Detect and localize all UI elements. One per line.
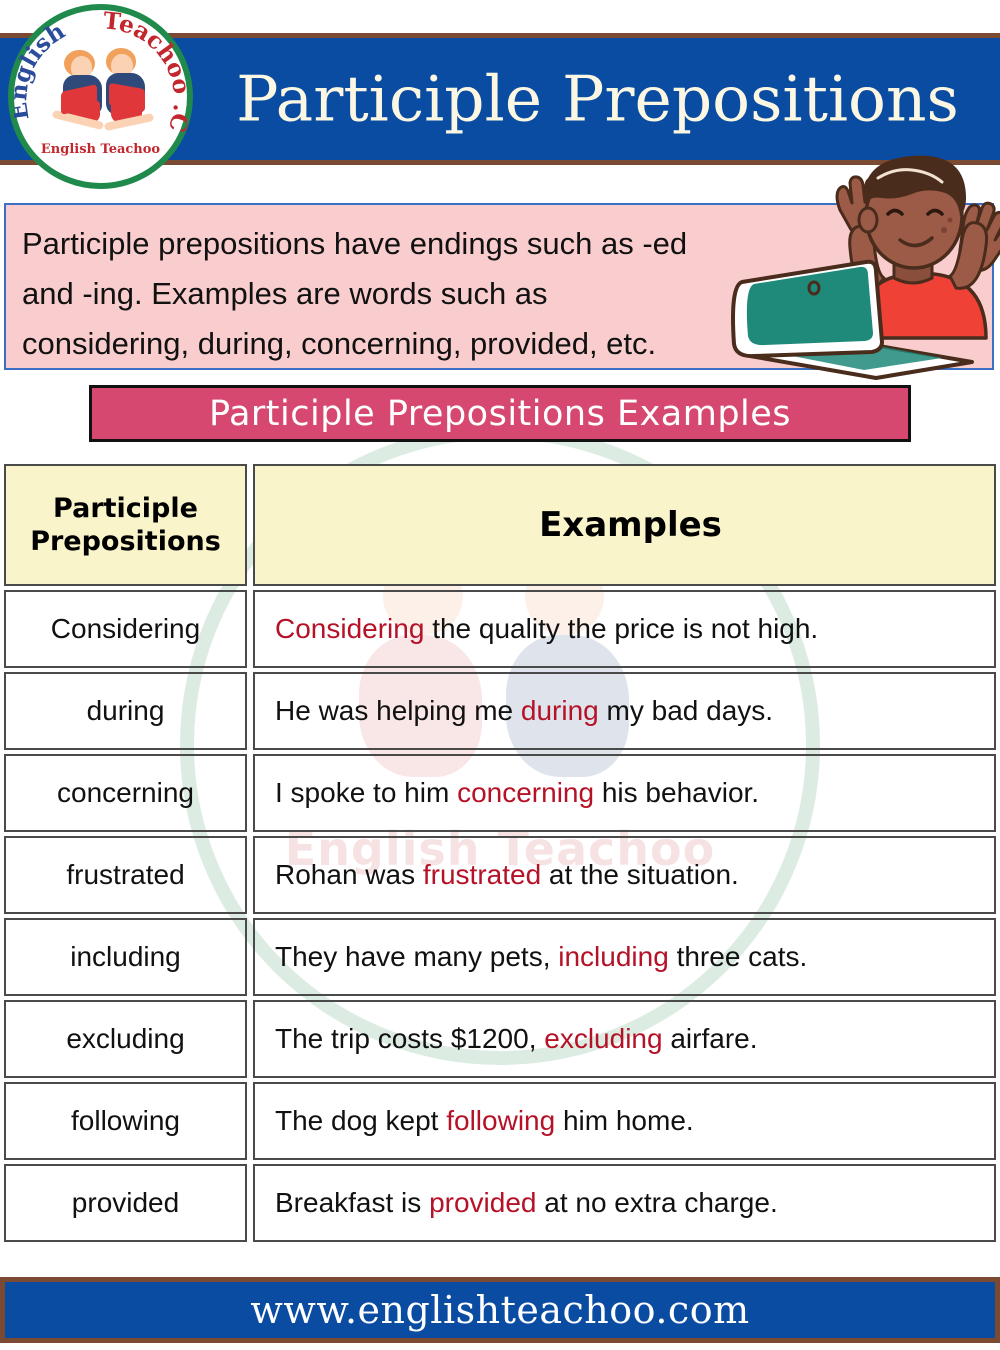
description-text: Participle prepositions have endings suc…	[22, 219, 982, 369]
table-cell-example: The dog kept following him home.	[253, 1082, 996, 1160]
table-cell-term: concerning	[4, 754, 247, 832]
table-cell-example: I spoke to him concerning his behavior.	[253, 754, 996, 832]
example-post: airfare.	[663, 1023, 758, 1054]
table-header-term-line-1: Participle	[30, 492, 221, 525]
example-pre: The trip costs $1200,	[275, 1023, 544, 1054]
example-highlight: frustrated	[423, 859, 541, 890]
section-banner-label: Participle Prepositions Examples	[209, 394, 791, 434]
table-cell-term: Considering	[4, 590, 247, 668]
table-cell-term: including	[4, 918, 247, 996]
table-header-examples-label: Examples	[275, 505, 986, 545]
term-label: excluding	[66, 1023, 184, 1055]
logo-bottom-label: English Teachoo	[14, 142, 187, 157]
example-sentence: They have many pets, including three cat…	[275, 941, 807, 973]
example-post: at no extra charge.	[536, 1187, 777, 1218]
example-sentence: The trip costs $1200, excluding airfare.	[275, 1023, 758, 1055]
example-highlight: Considering	[275, 613, 424, 644]
table-row: frustrated Rohan was frustrated at the s…	[4, 836, 996, 914]
term-label: following	[71, 1105, 180, 1137]
table-cell-example: They have many pets, including three cat…	[253, 918, 996, 996]
example-post: at the situation.	[541, 859, 739, 890]
example-pre: He was helping me	[275, 695, 521, 726]
term-label: concerning	[57, 777, 194, 809]
example-highlight: excluding	[544, 1023, 662, 1054]
example-post: his behavior.	[594, 777, 759, 808]
table-cell-term: frustrated	[4, 836, 247, 914]
example-post: him home.	[555, 1105, 694, 1136]
example-sentence: I spoke to him concerning his behavior.	[275, 777, 759, 809]
table-cell-example: Considering the quality the price is not…	[253, 590, 996, 668]
example-sentence: Breakfast is provided at no extra charge…	[275, 1187, 778, 1219]
section-banner: Participle Prepositions Examples	[89, 385, 911, 442]
example-sentence: Considering the quality the price is not…	[275, 613, 818, 645]
example-sentence: Rohan was frustrated at the situation.	[275, 859, 739, 891]
footer-url: www.englishteachoo.com	[250, 1288, 749, 1332]
description-line-2: and -ing. Examples are words such as	[22, 269, 982, 319]
example-highlight: provided	[429, 1187, 536, 1218]
table-header-row: Participle Prepositions Examples	[4, 464, 996, 586]
footer-band: www.englishteachoo.com	[0, 1277, 1000, 1343]
example-post: three cats.	[669, 941, 808, 972]
site-logo: English Teachoo .Com English Teachoo	[8, 4, 193, 189]
table-row: provided Breakfast is provided at no ext…	[4, 1164, 996, 1242]
participle-prepositions-table: Participle Prepositions Examples Conside…	[4, 464, 996, 1246]
table-row: Considering Considering the quality the …	[4, 590, 996, 668]
description-line-1: Participle prepositions have endings suc…	[22, 219, 982, 269]
table-row: excluding The trip costs $1200, excludin…	[4, 1000, 996, 1078]
example-sentence: He was helping me during my bad days.	[275, 695, 773, 727]
example-pre: The dog kept	[275, 1105, 446, 1136]
term-label: provided	[72, 1187, 179, 1219]
example-pre: Breakfast is	[275, 1187, 429, 1218]
table-header-term-label: Participle Prepositions	[30, 492, 221, 558]
example-highlight: during	[521, 695, 599, 726]
example-pre: I spoke to him	[275, 777, 457, 808]
example-sentence: The dog kept following him home.	[275, 1105, 694, 1137]
example-post: the quality the price is not high.	[424, 613, 818, 644]
table-row: including They have many pets, including…	[4, 918, 996, 996]
table-row: during He was helping me during my bad d…	[4, 672, 996, 750]
table-cell-term: following	[4, 1082, 247, 1160]
table-cell-example: Breakfast is provided at no extra charge…	[253, 1164, 996, 1242]
example-pre: They have many pets,	[275, 941, 558, 972]
description-line-3: considering, during, concerning, provide…	[22, 319, 982, 369]
term-label: including	[70, 941, 181, 973]
example-post: my bad days.	[599, 695, 773, 726]
term-label: Considering	[51, 613, 200, 645]
table-cell-example: The trip costs $1200, excluding airfare.	[253, 1000, 996, 1078]
example-highlight: following	[446, 1105, 555, 1136]
term-label: during	[87, 695, 165, 727]
logo-reading-figures	[61, 48, 151, 138]
table-header-cell-term: Participle Prepositions	[4, 464, 247, 586]
table-header-term-line-2: Prepositions	[30, 525, 221, 558]
table-cell-term: excluding	[4, 1000, 247, 1078]
page-title: Participle Prepositions	[205, 68, 990, 131]
example-highlight: including	[558, 941, 669, 972]
table-row: concerning I spoke to him concerning his…	[4, 754, 996, 832]
table-cell-term: during	[4, 672, 247, 750]
example-highlight: concerning	[457, 777, 594, 808]
term-label: frustrated	[66, 859, 184, 891]
table-cell-example: Rohan was frustrated at the situation.	[253, 836, 996, 914]
example-pre: Rohan was	[275, 859, 423, 890]
table-header-cell-examples: Examples	[253, 464, 996, 586]
table-cell-example: He was helping me during my bad days.	[253, 672, 996, 750]
table-row: following The dog kept following him hom…	[4, 1082, 996, 1160]
table-cell-term: provided	[4, 1164, 247, 1242]
description-box: Participle prepositions have endings suc…	[4, 203, 994, 370]
